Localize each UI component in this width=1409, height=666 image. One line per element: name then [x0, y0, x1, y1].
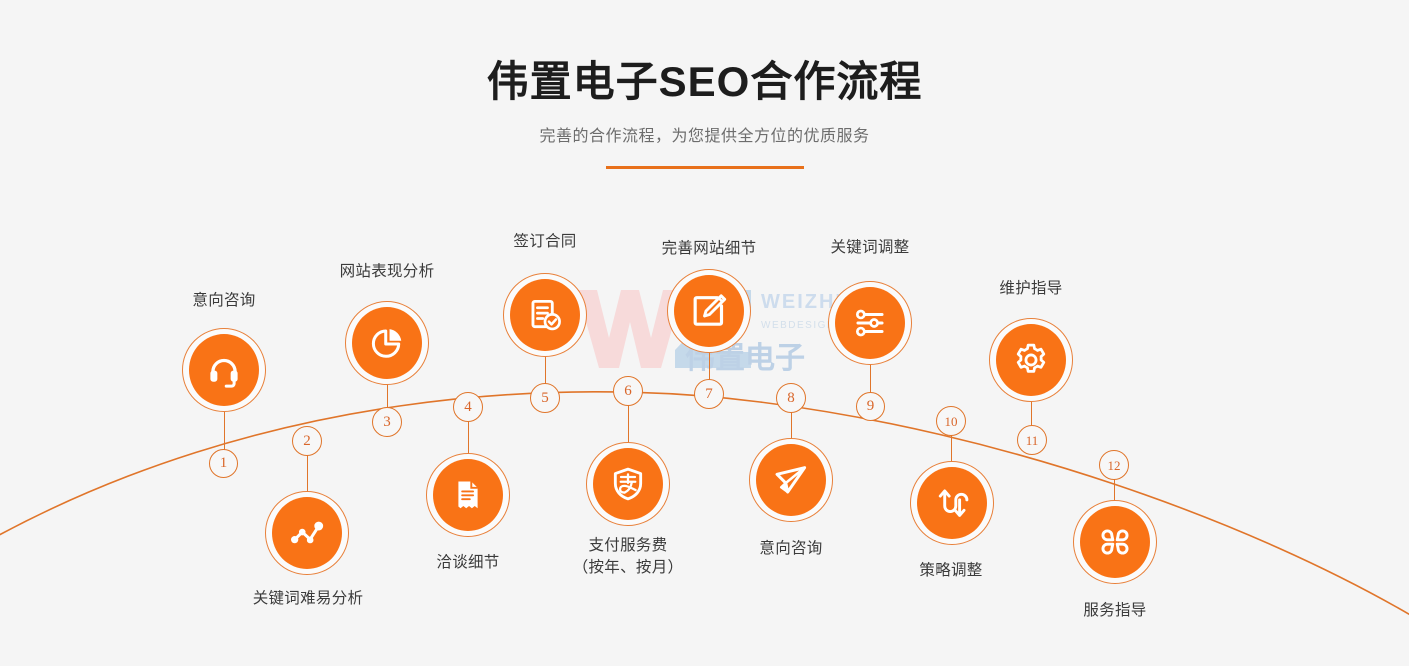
step-3-disc: [352, 307, 422, 379]
header-block: 伟置电子SEO合作流程 完善的合作流程，为您提供全方位的优质服务: [0, 58, 1409, 169]
stem-10: [951, 434, 952, 461]
step-10-disc: [917, 467, 987, 539]
step-2-label: 关键词难易分析: [234, 588, 382, 610]
network-chart-icon: [288, 514, 326, 552]
step-8-disc: [756, 444, 826, 516]
marker-6[interactable]: 6: [613, 376, 643, 406]
step-4-label: 洽谈细节: [401, 552, 535, 574]
step-6-label: 支付服务费 （按年、按月）: [554, 535, 702, 580]
marker-10[interactable]: 10: [936, 406, 966, 436]
step-9-node[interactable]: [828, 281, 912, 365]
step-11-disc: [996, 324, 1066, 396]
step-1-node[interactable]: [182, 328, 266, 412]
page-subtitle: 完善的合作流程，为您提供全方位的优质服务: [0, 122, 1409, 146]
marker-9[interactable]: 9: [856, 392, 885, 421]
paper-plane-icon: [772, 461, 810, 499]
step-9-disc: [835, 287, 905, 359]
edit-square-icon: [689, 291, 729, 331]
step-2-node[interactable]: [265, 491, 349, 575]
alipay-shield-icon: [609, 465, 647, 503]
stem-4: [468, 420, 469, 453]
page-title: 伟置电子SEO合作流程: [0, 58, 1409, 106]
gear-icon: [1012, 341, 1050, 379]
step-8-label: 意向咨询: [724, 538, 858, 560]
step-11-label: 维护指导: [964, 278, 1098, 300]
watermark-tagline-en: WEBDESIGN: [761, 320, 836, 331]
marker-8[interactable]: 8: [776, 383, 806, 413]
headset-icon: [205, 351, 243, 389]
marker-12[interactable]: 12: [1099, 450, 1129, 480]
step-1-label: 意向咨询: [157, 290, 291, 312]
step-6-disc: [593, 448, 663, 520]
marker-2[interactable]: 2: [292, 426, 322, 456]
stem-2: [307, 455, 308, 492]
step-5-label: 签订合同: [478, 231, 612, 253]
clover-grid-icon: [1096, 523, 1134, 561]
flow-curve-path: [0, 392, 1409, 620]
marker-1[interactable]: 1: [209, 449, 238, 478]
step-7-disc: [674, 275, 744, 347]
marker-11[interactable]: 11: [1017, 425, 1047, 455]
step-9-label: 关键词调整: [803, 237, 937, 259]
title-underline: [606, 166, 804, 169]
pie-chart-icon: [368, 324, 406, 362]
step-10-label: 策略调整: [884, 560, 1018, 582]
step-3-label: 网站表现分析: [320, 261, 454, 283]
step-12-node[interactable]: [1073, 500, 1157, 584]
step-2-disc: [272, 497, 342, 569]
sliders-icon: [851, 304, 889, 342]
step-12-disc: [1080, 506, 1150, 578]
step-1-disc: [189, 334, 259, 406]
marker-5[interactable]: 5: [530, 383, 560, 413]
marker-3[interactable]: 3: [372, 407, 402, 437]
step-7-label: 完善网站细节: [637, 238, 781, 260]
stem-1: [224, 408, 225, 450]
step-10-node[interactable]: [910, 461, 994, 545]
infographic-canvas: 伟置电子SEO合作流程 完善的合作流程，为您提供全方位的优质服务 WEIZHI …: [0, 0, 1409, 666]
step-4-disc: [433, 459, 503, 531]
step-6-node[interactable]: [586, 442, 670, 526]
contract-check-icon: [526, 296, 564, 334]
swap-arrows-icon: [933, 484, 971, 522]
step-11-node[interactable]: [989, 318, 1073, 402]
stem-6: [628, 404, 629, 442]
receipt-icon: [450, 477, 486, 513]
step-12-label: 服务指导: [1048, 600, 1182, 622]
step-8-node[interactable]: [749, 438, 833, 522]
step-5-disc: [510, 279, 580, 351]
step-5-node[interactable]: [503, 273, 587, 357]
step-3-node[interactable]: [345, 301, 429, 385]
step-7-node[interactable]: [667, 269, 751, 353]
marker-7[interactable]: 7: [694, 379, 724, 409]
step-4-node[interactable]: [426, 453, 510, 537]
marker-4[interactable]: 4: [453, 392, 483, 422]
